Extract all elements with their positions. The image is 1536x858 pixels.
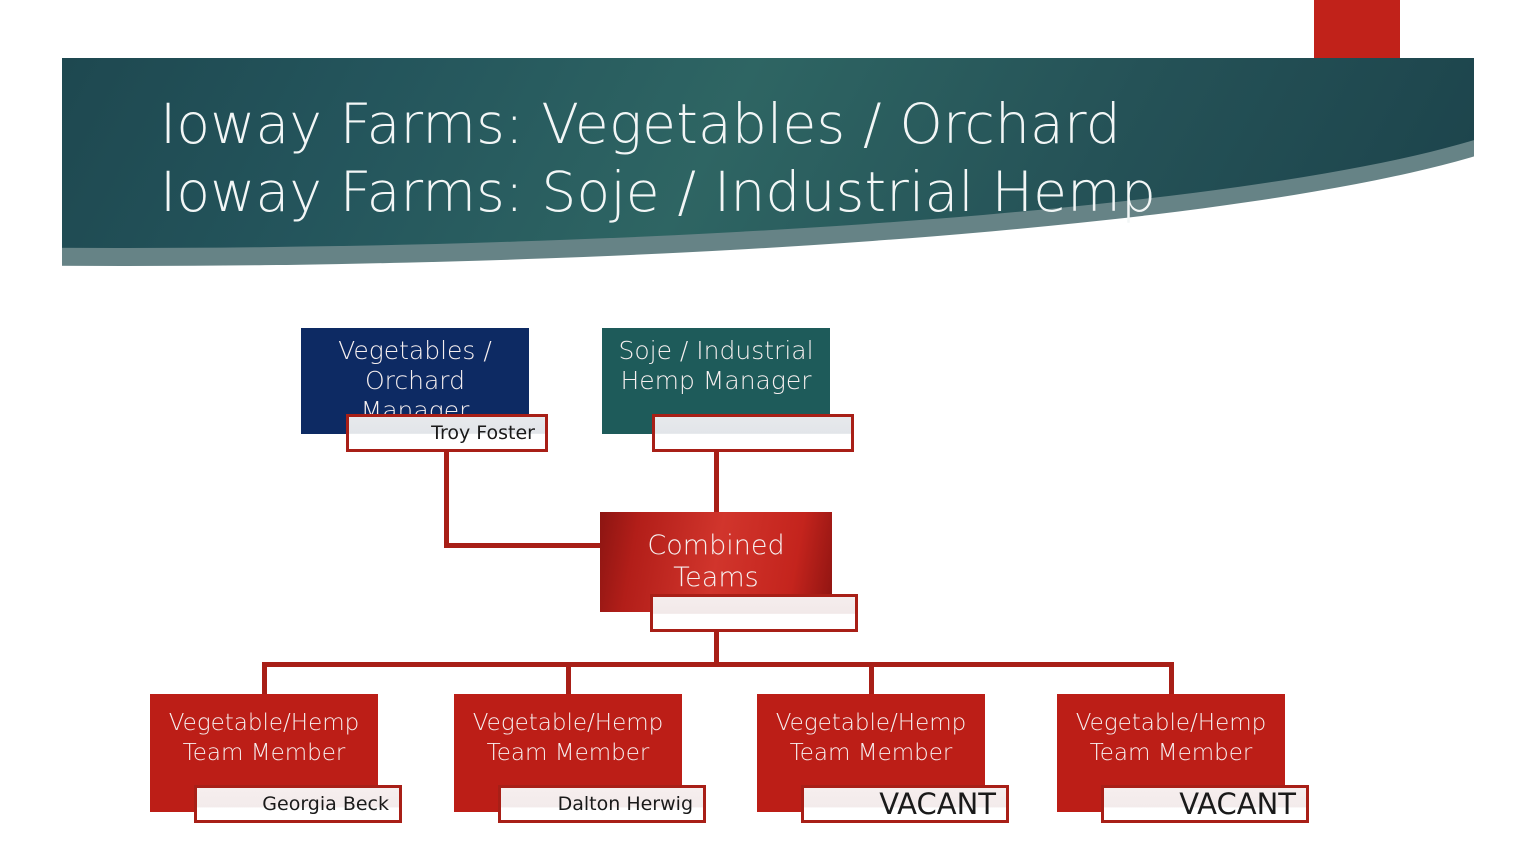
connector-veg-vertical <box>444 452 449 548</box>
org-box-title: Vegetable/Hemp Team Member <box>757 708 985 768</box>
page-title: Ioway Farms: Vegetables / Orchard Ioway … <box>160 90 1340 226</box>
connector-soje-vertical <box>714 452 719 514</box>
name-plate-team-member-4[interactable]: VACANT <box>1101 785 1309 823</box>
org-box-title: Vegetables / Orchard Manager <box>301 336 529 426</box>
connector-team-bus <box>262 662 1174 667</box>
name-plate-soje-hemp-manager[interactable] <box>652 414 854 452</box>
name-plate-text: Dalton Herwig <box>558 793 703 815</box>
name-plate-text: Georgia Beck <box>262 793 399 815</box>
org-box-title: Vegetable/Hemp Team Member <box>150 708 378 768</box>
slide-canvas: Ioway Farms: Vegetables / Orchard Ioway … <box>0 0 1536 858</box>
page-title-line-1: Ioway Farms: Vegetables / Orchard <box>160 90 1340 158</box>
name-plate-combined-teams[interactable] <box>650 594 858 632</box>
name-plate-team-member-1[interactable]: Georgia Beck <box>194 785 402 823</box>
name-plate-text: VACANT <box>1179 787 1306 821</box>
name-plate-vegetables-orchard-manager[interactable]: Troy Foster <box>346 414 548 452</box>
name-plate-team-member-3[interactable]: VACANT <box>801 785 1009 823</box>
connector-drop-1 <box>262 662 267 696</box>
page-title-line-2: Ioway Farms: Soje / Industrial Hemp <box>160 158 1340 226</box>
name-plate-text: VACANT <box>879 787 1006 821</box>
org-box-title: Vegetable/Hemp Team Member <box>1057 708 1285 768</box>
connector-drop-4 <box>1169 662 1174 696</box>
org-box-title: Vegetable/Hemp Team Member <box>454 708 682 768</box>
org-box-title: Soje / Industrial Hemp Manager <box>602 336 830 396</box>
name-plate-text: Troy Foster <box>431 422 545 444</box>
connector-veg-horizontal <box>444 543 606 548</box>
connector-drop-3 <box>869 662 874 696</box>
connector-drop-2 <box>566 662 571 696</box>
org-box-title: Combined Teams <box>600 530 832 594</box>
name-plate-team-member-2[interactable]: Dalton Herwig <box>498 785 706 823</box>
